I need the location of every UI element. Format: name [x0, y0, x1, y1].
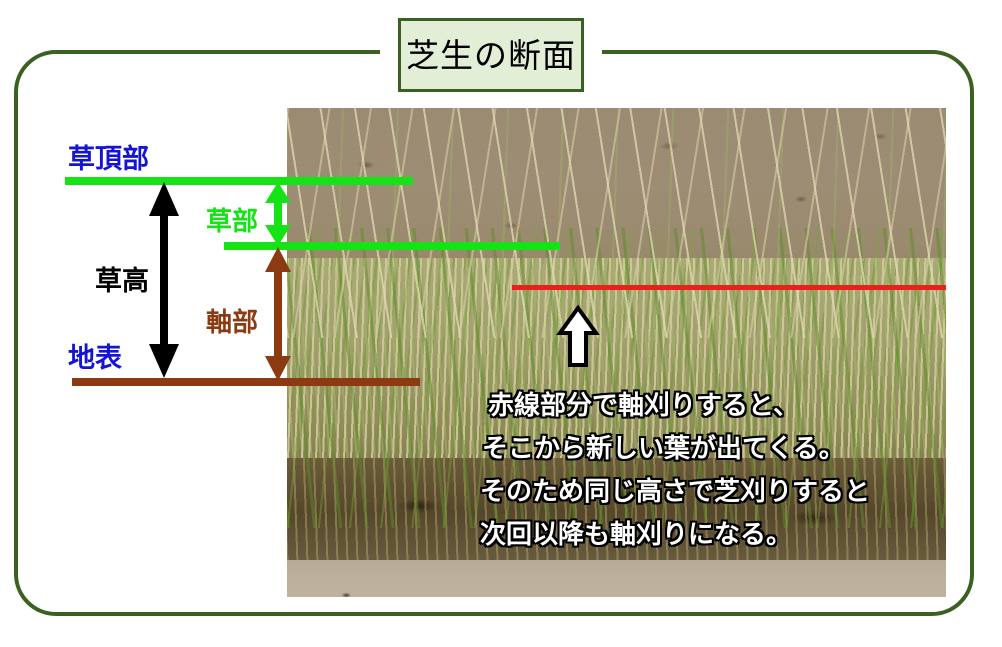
label-stem-part: 軸部 [206, 310, 258, 336]
photo-pale-stems [287, 108, 946, 338]
scalping-cut-line [512, 285, 946, 290]
label-leaf-part: 草部 [206, 209, 258, 235]
label-ground-surface: 地表 [68, 345, 122, 372]
title-box: 芝生の断面 [398, 18, 584, 92]
page-title: 芝生の断面 [406, 39, 576, 72]
caption-line-4: 次回以降も軸刈りになる。 [480, 514, 870, 557]
photo-sand-subsoil [287, 560, 946, 597]
photo-caption: 赤線部分で軸刈りすると、 そこから新しい葉が出てくる。 そのため同じ高さで芝刈り… [480, 385, 870, 557]
caption-line-2: そこから新しい葉が出てくる。 [482, 428, 870, 471]
leaf-part-arrow-icon [262, 182, 294, 250]
caption-line-1: 赤線部分で軸刈りすると、 [488, 385, 870, 428]
label-grass-height: 草高 [95, 268, 149, 295]
upward-pointer-arrow-icon [556, 305, 600, 371]
grass-height-arrow-icon [146, 182, 182, 382]
label-grass-top: 草頂部 [68, 146, 149, 173]
grass-top-level-line [65, 177, 413, 185]
ground-surface-line [72, 378, 420, 386]
stem-part-arrow-icon [262, 247, 294, 385]
caption-line-3: そのため同じ高さで芝刈りすると [480, 471, 870, 514]
diagram-canvas: 草頂部 地表 草高 草部 軸部 赤線部分で軸刈りすると、 そこから新しい葉が出て… [0, 0, 1002, 647]
